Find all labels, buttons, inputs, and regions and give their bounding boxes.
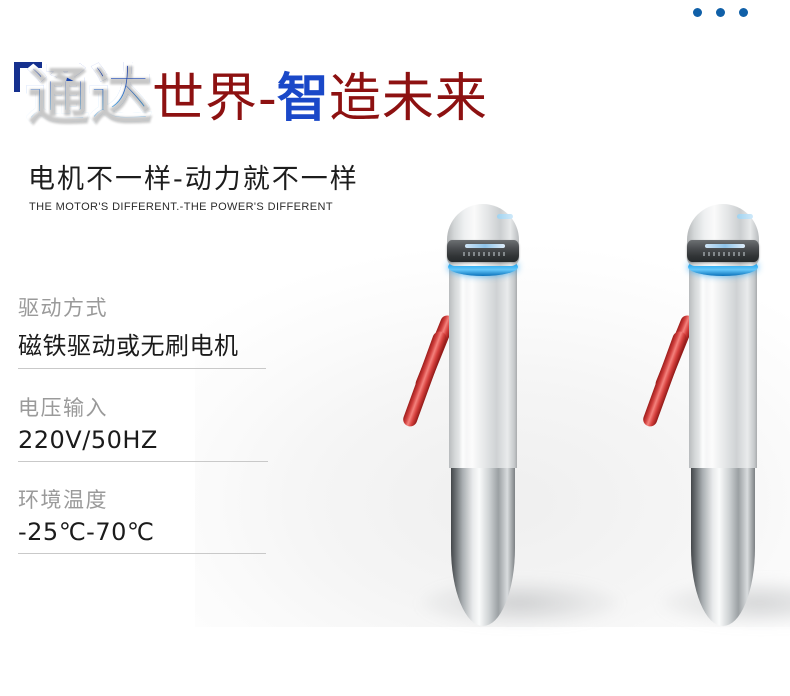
barrier-arm-horizontal xyxy=(543,252,708,267)
title-segment-brand: 通达 xyxy=(26,58,152,131)
dot-icon-2 xyxy=(716,8,725,17)
dome-sensor-icon xyxy=(737,214,753,219)
title-segment-future: 造未来 xyxy=(329,69,488,129)
barrier-arm-horizontal xyxy=(303,252,468,267)
decorative-dots xyxy=(693,8,748,17)
title-dash: - xyxy=(258,69,277,129)
panel-display-strip xyxy=(705,244,745,248)
title-segment-accent: 智 xyxy=(277,69,329,129)
turnstile-gate-left xyxy=(425,196,545,636)
spec-value: -25℃-70℃ xyxy=(18,518,266,554)
panel-display-strip xyxy=(465,244,505,248)
dot-icon-3 xyxy=(739,8,748,17)
spec-label: 驱动方式 xyxy=(18,292,266,322)
title-segment-world: 世界 xyxy=(152,69,258,129)
subtitle-english: THE MOTOR'S DIFFERENT.-THE POWER'S DIFFE… xyxy=(29,201,333,213)
gate-control-panel xyxy=(447,240,519,262)
panel-indicator-dots xyxy=(463,252,507,256)
gate-control-panel xyxy=(687,240,759,262)
spec-label: 环境温度 xyxy=(18,484,266,514)
spec-value: 220V/50HZ xyxy=(18,426,268,462)
spec-item-drive: 驱动方式 磁铁驱动或无刷电机 xyxy=(18,292,266,369)
spec-label: 电压输入 xyxy=(18,392,268,422)
panel-indicator-dots xyxy=(703,252,747,256)
spec-item-temperature: 环境温度 -25℃-70℃ xyxy=(18,484,266,554)
dome-sensor-icon xyxy=(497,214,513,219)
page-title: 通达世界-智造未来 xyxy=(26,64,488,126)
spec-value: 磁铁驱动或无刷电机 xyxy=(18,326,266,369)
spec-item-voltage: 电压输入 220V/50HZ xyxy=(18,392,268,462)
turnstile-gate-right xyxy=(665,196,785,636)
subtitle-chinese: 电机不一样-动力就不一样 xyxy=(28,157,359,196)
dot-icon-1 xyxy=(693,8,702,17)
